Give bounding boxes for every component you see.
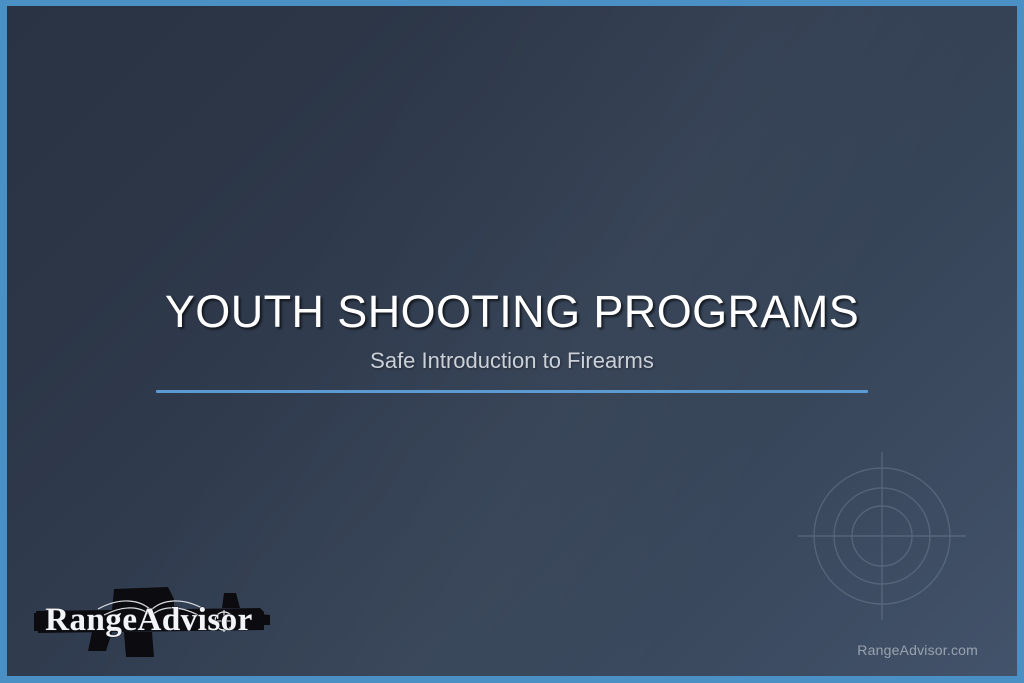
title-block: YOUTH SHOOTING PROGRAMS Safe Introductio…: [7, 288, 1017, 393]
page-subtitle: Safe Introduction to Firearms: [7, 349, 1017, 373]
slide-frame: YOUTH SHOOTING PROGRAMS Safe Introductio…: [0, 0, 1024, 683]
brand-logo-text: RangeAdvisor: [45, 602, 253, 638]
footer-url: RangeAdvisor.com: [857, 642, 978, 658]
slide-canvas: YOUTH SHOOTING PROGRAMS Safe Introductio…: [7, 6, 1017, 676]
accent-divider: [156, 390, 868, 393]
brand-logo: RangeAdvisor: [28, 577, 271, 659]
crosshair-target-icon: [793, 447, 971, 625]
page-title: YOUTH SHOOTING PROGRAMS: [7, 288, 1017, 337]
